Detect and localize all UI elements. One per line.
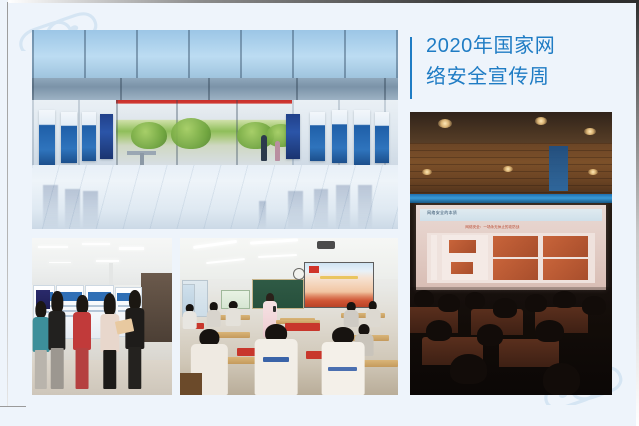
slide-heading: 网络安全的本质 <box>427 210 457 216</box>
slide-thumb <box>493 259 538 280</box>
lobby-structural-beam <box>32 78 398 100</box>
lobby-tree <box>131 122 168 150</box>
slide-title-band <box>320 276 358 279</box>
slide-flag-graphic <box>309 266 318 273</box>
lobby-floor-reflection <box>259 201 266 229</box>
title-accent-bar <box>410 37 412 99</box>
audience-head <box>535 320 563 343</box>
auditorium-audience <box>410 287 612 395</box>
student-figure <box>206 302 221 327</box>
auditorium-blue-light-strip <box>410 194 612 202</box>
microphone <box>273 306 276 312</box>
ceiling-light <box>49 262 71 264</box>
photo-classroom <box>180 238 398 395</box>
audience-head <box>582 296 606 315</box>
wall-light <box>588 169 598 175</box>
projection-screen: 网络安全的本质 网络安全：一场永无休止的攻防战 <box>416 205 606 290</box>
ceiling-light <box>82 243 110 246</box>
photo-lobby <box>32 30 398 229</box>
poster-page: 网络安全的本质 网络安全：一场永无休止的攻防战 <box>9 3 636 407</box>
slide-thumb <box>449 240 476 253</box>
lobby-glass-curtain-wall <box>32 30 398 78</box>
lobby-banner-stand <box>82 112 97 162</box>
lobby-floor-reflection <box>65 189 80 229</box>
wall-light <box>503 166 513 172</box>
audience-head <box>543 363 579 395</box>
slide-content-grid <box>427 233 594 282</box>
lobby-floor-reflection <box>358 185 373 229</box>
shirt-print <box>263 357 289 362</box>
corridor-doorway <box>141 273 172 342</box>
seat-back <box>499 339 560 367</box>
lobby-floor-reflection <box>314 189 329 229</box>
lobby-floor-reflection <box>43 185 58 229</box>
lobby-floor-reflection <box>288 191 303 229</box>
screenshot-canvas: 网络安全的本质 网络安全：一场永无休止的攻防战 <box>0 0 639 426</box>
ceiling-light <box>38 246 69 249</box>
lobby-banner-stand <box>100 114 112 160</box>
slide-thumb <box>543 236 588 257</box>
slide-header-band: 网络安全的本质 <box>420 209 602 222</box>
lobby-banner-stand <box>61 112 76 164</box>
lobby-banner-stand <box>332 110 347 164</box>
student-figure <box>73 295 93 389</box>
slide-red-footer <box>305 292 373 307</box>
lobby-banner-stand <box>39 110 55 166</box>
auditorium-blue-panel <box>549 146 567 191</box>
audience-head <box>525 294 547 312</box>
ceiling-light <box>96 260 118 262</box>
ceiling-light <box>119 247 144 249</box>
lobby-person <box>275 141 280 161</box>
lobby-banner-stand <box>286 114 299 160</box>
lobby-banner-stand <box>310 112 325 162</box>
auditorium-ceiling <box>410 112 612 146</box>
slide-side-strip <box>431 235 438 279</box>
lobby-banner-stand <box>354 110 370 166</box>
slide-thumb <box>543 259 588 280</box>
poster-title-block: 2020年国家网 络安全宣传周 <box>410 31 620 103</box>
student-figure <box>124 290 145 389</box>
audience-head <box>553 291 575 308</box>
audience-head <box>465 292 485 309</box>
shirt-print <box>328 367 356 372</box>
desk-red-placard <box>302 323 319 331</box>
student-figure <box>226 301 241 326</box>
lobby-floor-reflection <box>83 191 98 229</box>
lobby-tree <box>171 118 211 150</box>
poster-title: 2020年国家网 络安全宣传周 <box>426 31 616 93</box>
student-figure-foreground <box>322 327 366 395</box>
window-frame-left <box>7 2 8 407</box>
audience-head <box>477 324 503 346</box>
lobby-person <box>261 135 267 161</box>
lobby-table-leg <box>140 153 144 165</box>
classroom-projection-screen <box>304 262 374 308</box>
window-frame-top <box>8 0 639 3</box>
classroom-chair <box>180 373 202 395</box>
audience-head <box>414 290 434 307</box>
student-figure <box>182 304 197 329</box>
audience-head <box>438 294 460 312</box>
lobby-floor-reflection <box>336 185 351 229</box>
student-figure <box>99 293 120 389</box>
slide-subheading: 网络安全：一场永无休止的攻防战 <box>465 225 519 230</box>
ceiling-light <box>584 128 596 135</box>
slide-thumb <box>493 236 538 257</box>
audience-head <box>450 354 486 384</box>
ceiling-projector <box>317 241 334 249</box>
audience-head <box>493 298 517 317</box>
lobby-banner-stand <box>375 112 390 164</box>
student-figure <box>47 291 67 388</box>
slide-thumb <box>451 262 473 274</box>
audience-head <box>426 320 452 342</box>
photo-display-boards <box>32 238 172 395</box>
photo-auditorium: 网络安全的本质 网络安全：一场永无休止的攻防战 <box>410 112 612 395</box>
wall-light <box>422 169 432 175</box>
window-frame-bottom <box>0 406 26 407</box>
